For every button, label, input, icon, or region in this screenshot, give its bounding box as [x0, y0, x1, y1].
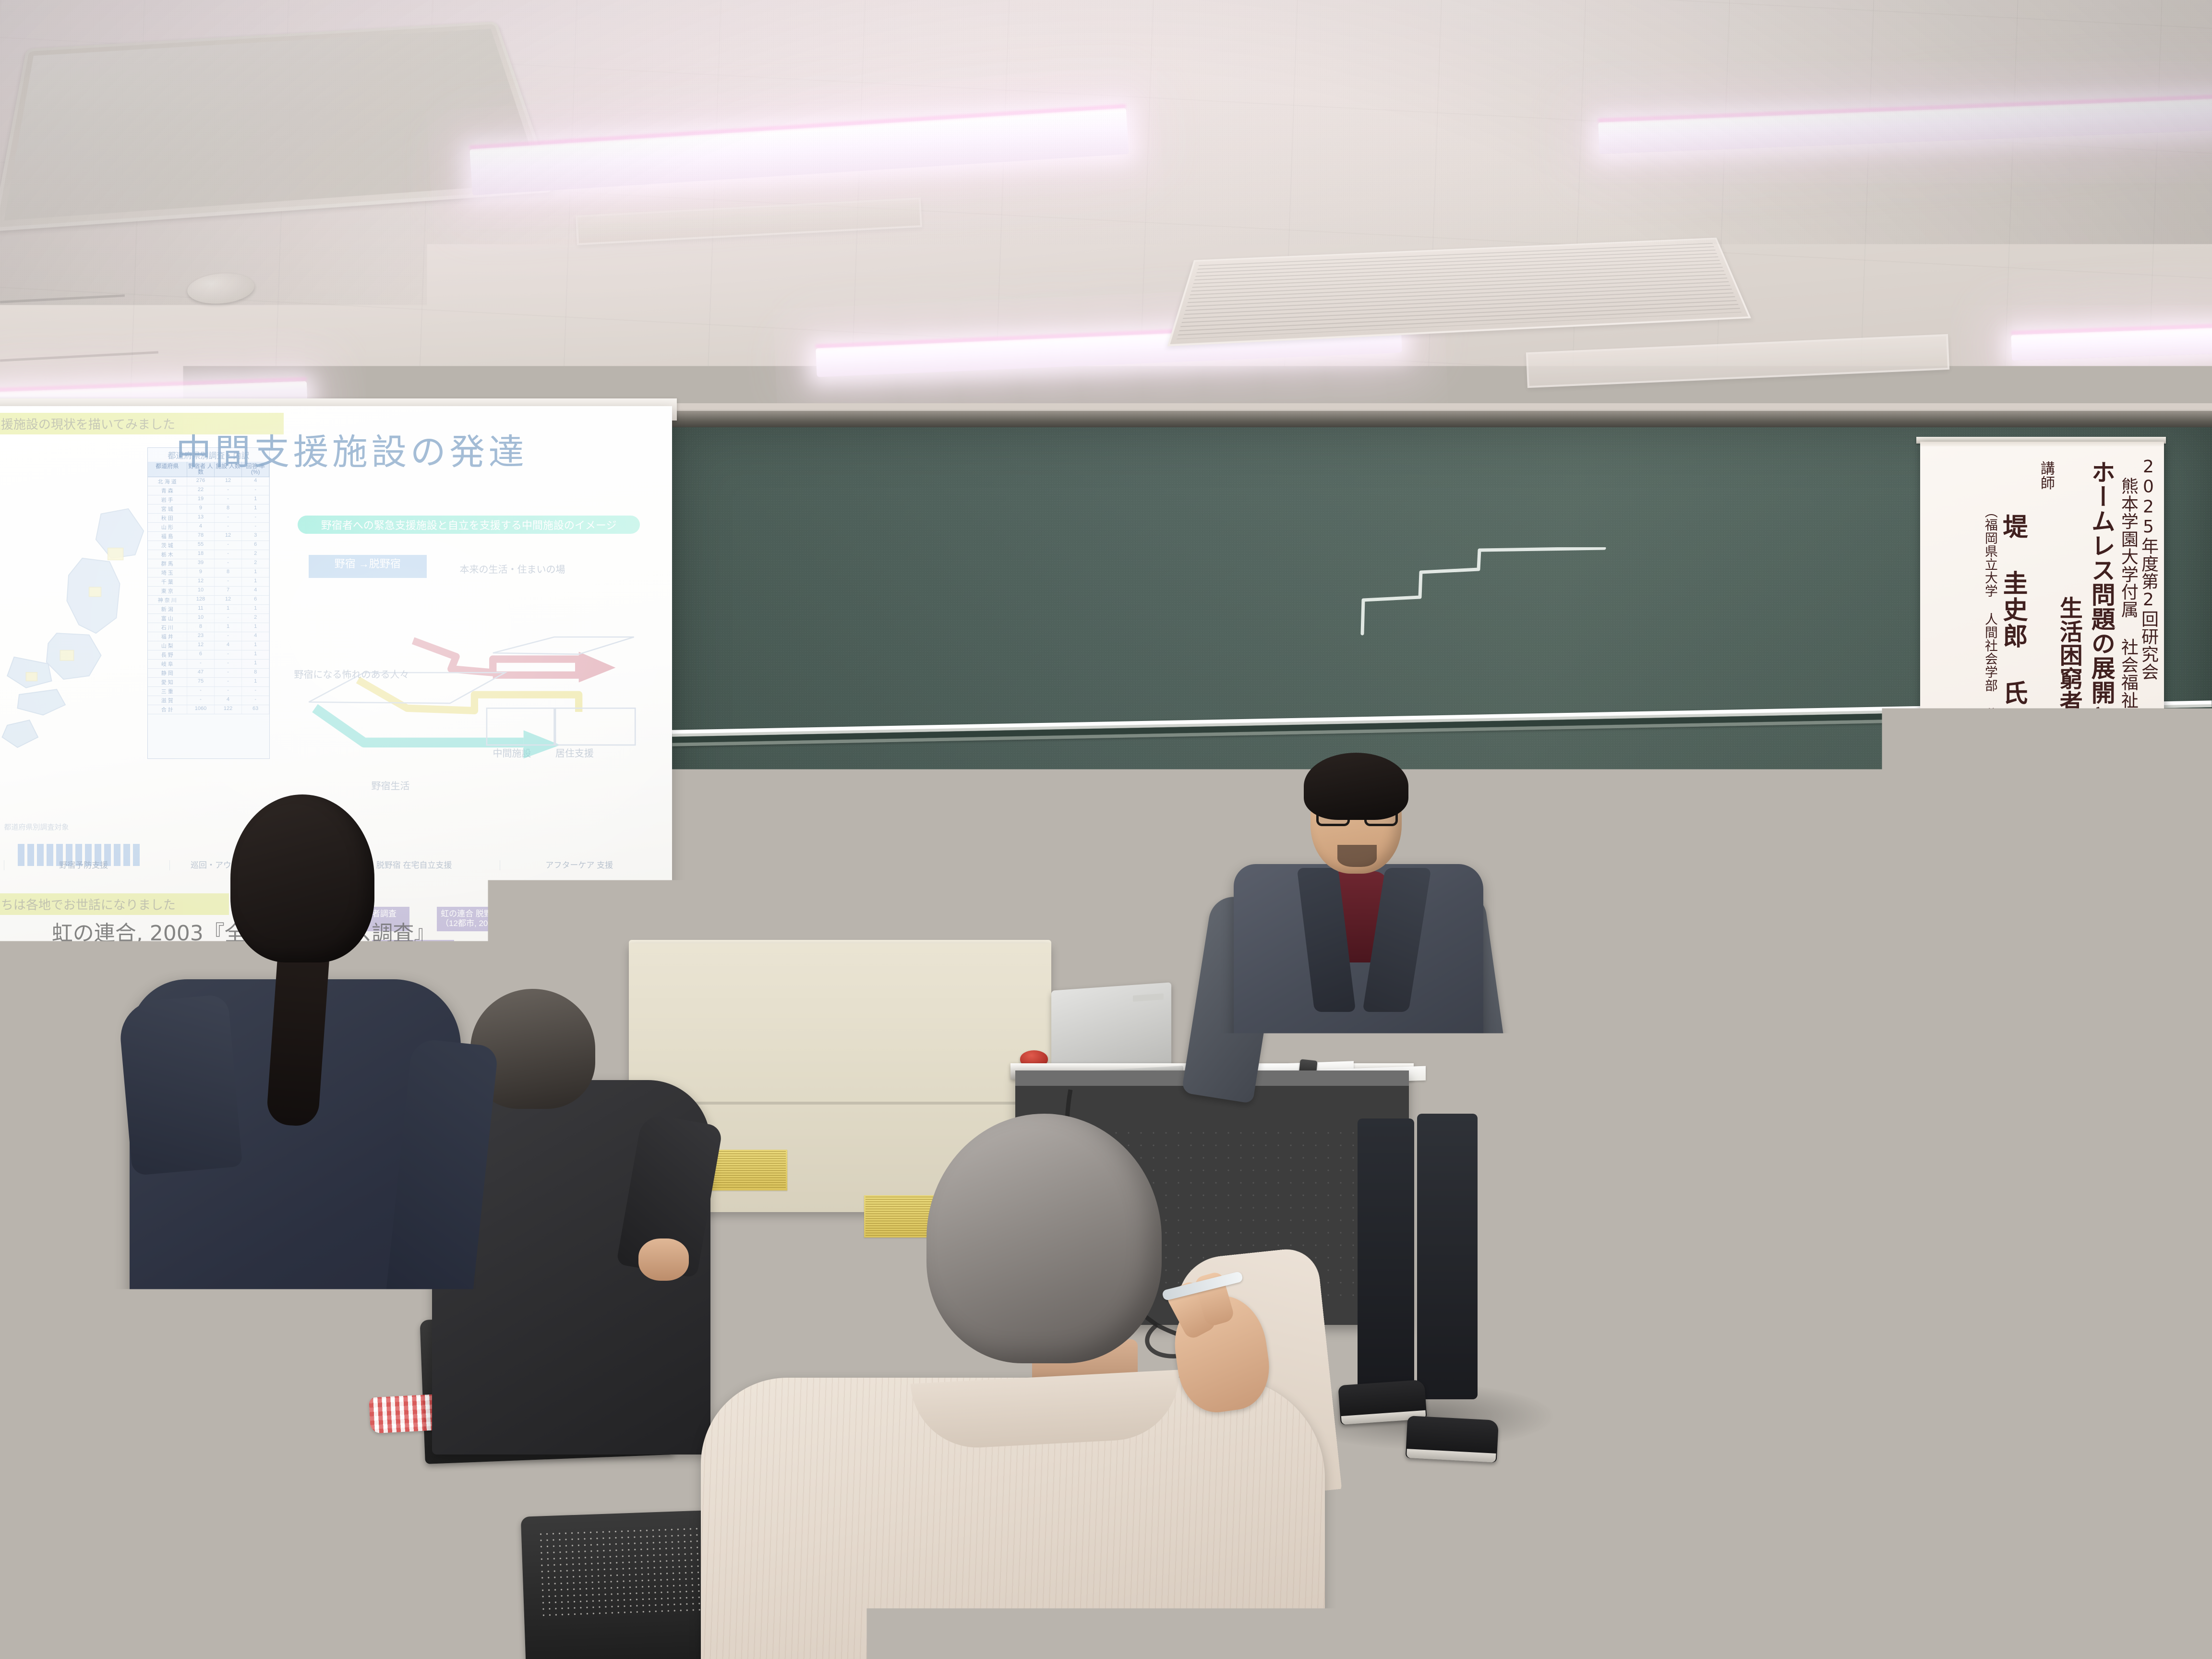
table-row: 北 海 道276124 — [148, 477, 270, 486]
table-cell: 19 — [187, 495, 215, 504]
legend-item: 脱野宿 在宅自立支援 — [335, 860, 493, 870]
table-cell: 福 島 — [148, 532, 187, 541]
table-cell: - — [215, 669, 242, 677]
table-cell: 276 — [187, 477, 215, 486]
table-cell: 三 重 — [148, 687, 187, 696]
table-cell: 1 — [242, 568, 269, 577]
table-cell: 神 奈 川 — [148, 596, 187, 604]
table-row: 滋 賀-4- — [148, 696, 270, 705]
prefecture-table-body: 北 海 道276124青 森22--岩 手19-1宮 城981秋 田13--山 … — [148, 477, 270, 759]
table-cell: 1 — [242, 577, 269, 586]
water-bottle[interactable] — [1755, 1247, 1797, 1343]
table-cell: 石 川 — [148, 623, 187, 632]
table-row: 茨 城55-6 — [148, 541, 270, 550]
table-cell: 1 — [242, 650, 269, 659]
table-cell: 埼 玉 — [148, 568, 187, 577]
table-cell: 4 — [242, 477, 269, 486]
legend-item: 野宿予防支援 — [4, 860, 163, 870]
desk-leg — [1517, 1223, 1528, 1343]
table-cell: 4 — [187, 523, 215, 531]
table-cell: 8 — [187, 623, 215, 632]
table-cell: 2 — [242, 550, 269, 559]
table-cell: 23 — [187, 632, 215, 641]
table-row: 合 計106012263 — [148, 705, 270, 714]
table-cell: 福 井 — [148, 632, 187, 641]
attendee-arm — [385, 1038, 499, 1314]
table-cell: 合 計 — [148, 705, 187, 714]
table-cell: 静 岡 — [148, 669, 187, 677]
table-cell: - — [215, 550, 242, 559]
desk — [0, 1160, 365, 1195]
power-cable — [998, 1075, 1334, 1411]
table-cell: 千 葉 — [148, 577, 187, 586]
table-row: 青 森22-- — [148, 486, 270, 495]
table-cell: 9 — [187, 568, 215, 577]
table-cell: 4 — [215, 641, 242, 650]
slide-yellow-banner-mid: たちは各地でお世話になりました — [0, 893, 229, 915]
table-cell: 1 — [242, 495, 269, 504]
table-cell: - — [215, 632, 242, 641]
table-cell: - — [187, 696, 215, 705]
table-cell: - — [242, 514, 269, 522]
table-cell: 10 — [187, 614, 215, 623]
pull-down-projection-screen: 支援施設の現状を描いてみました — [0, 406, 672, 953]
japan-map-graphic — [0, 461, 171, 805]
table-row: 長 野6-1 — [148, 650, 270, 660]
legend-item: アフターケア 支援 — [500, 860, 659, 870]
table-cell: 1 — [242, 660, 269, 668]
banner-title-sub: 生活困窮者支援 — [2056, 452, 2081, 976]
table-cell: 1 — [242, 605, 269, 613]
table-cell: 4 — [242, 632, 269, 641]
table-cell: 2 — [242, 559, 269, 568]
table-cell: 13 — [187, 514, 215, 522]
table-cell: 宮 城 — [148, 505, 187, 513]
attendee-shoulder — [118, 994, 243, 1176]
table-cell: 22 — [187, 486, 215, 495]
banner-speaker-name: 堤 圭史郎 氏 — [1999, 452, 2026, 976]
table-cell: - — [242, 523, 269, 531]
table-cell: 12 — [215, 596, 242, 604]
table-cell: 11 — [187, 605, 215, 613]
desk-leg — [2160, 1337, 2173, 1424]
table-row: 富 山10-2 — [148, 614, 270, 623]
table-row: 栃 木18-2 — [148, 550, 270, 559]
desk — [0, 1480, 164, 1511]
table-cell: 75 — [187, 678, 215, 686]
table-row: 千 葉12-1 — [148, 577, 270, 587]
table-cell: 39 — [187, 559, 215, 568]
legend-item: 巡回・アウトリーチ 脱野宿支援 — [169, 860, 328, 870]
table-row: 福 井23-4 — [148, 632, 270, 641]
table-cell: 63 — [242, 705, 269, 714]
table-cell: 1 — [242, 641, 269, 650]
banner-title-main: ホームレス問題の展開と — [2089, 452, 2114, 976]
banner-affiliation: （福岡県立大学 人間社会学部 公共社会学科 教授） — [1983, 452, 1996, 976]
table-cell: 富 山 — [148, 614, 187, 623]
table-cell: 愛 知 — [148, 678, 187, 686]
table-cell: 岐 阜 — [148, 660, 187, 668]
table-cell: - — [215, 541, 242, 550]
table-cell: 12 — [187, 577, 215, 586]
banner-organizer: 熊本学園大学付属 社会福祉研究所 — [2119, 452, 2137, 976]
table-cell: - — [215, 614, 242, 623]
attendee-head — [470, 989, 595, 1109]
table-row: 山 梨1241 — [148, 641, 270, 650]
banner-speaker-label: 講師 — [2038, 452, 2054, 976]
table-cell: - — [215, 514, 242, 522]
table-row: 東 京1074 — [148, 587, 270, 596]
table-cell: 1 — [242, 623, 269, 632]
survey-badge: 虹の連合 脱野宿生活者調査（12都市, 2003） — [437, 907, 546, 931]
table-cell: 茨 城 — [148, 541, 187, 550]
table-row: 宮 城981 — [148, 505, 270, 514]
table-cell: - — [215, 559, 242, 568]
table-cell: 12 — [215, 532, 242, 541]
cabinet-instruction-label — [710, 1150, 787, 1190]
table-row: 石 川811 — [148, 623, 270, 632]
cabinet-instruction-label — [864, 1195, 960, 1238]
table-cell: 10 — [187, 587, 215, 595]
table-cell: 128 — [187, 596, 215, 604]
table-cell: 47 — [187, 669, 215, 677]
lecture-room-photograph: 2025年度第2回研究会 熊本学園大学付属 社会福祉研究所 ホームレス問題の展開… — [0, 0, 2212, 1659]
table-cell: 新 潟 — [148, 605, 187, 613]
table-cell: 秋 田 — [148, 514, 187, 522]
table-cell: 群 馬 — [148, 559, 187, 568]
table-cell: - — [215, 678, 242, 686]
table-cell: - — [215, 495, 242, 504]
table-row: 群 馬39-2 — [148, 559, 270, 568]
table-cell: - — [215, 523, 242, 531]
table-cell: - — [215, 577, 242, 586]
table-cell: 1 — [215, 605, 242, 613]
table-cell: 12 — [187, 641, 215, 650]
table-row: 山 形4-- — [148, 523, 270, 532]
seminar-banner: 2025年度第2回研究会 熊本学園大学付属 社会福祉研究所 ホームレス問題の展開… — [1920, 442, 2164, 989]
prefecture-table: 都道府県別調査・内訳 都道府県 野宿者 人数 施設 人数 回答 率(%) 北 海… — [147, 447, 270, 759]
table-row: 埼 玉981 — [148, 568, 270, 577]
table-cell: - — [242, 687, 269, 696]
table-cell: 122 — [215, 705, 242, 714]
table-row: 三 重--- — [148, 687, 270, 696]
table-cell: 栃 木 — [148, 550, 187, 559]
table-cell: 滋 賀 — [148, 696, 187, 705]
table-cell: 18 — [187, 550, 215, 559]
table-cell: 4 — [242, 587, 269, 595]
table-cell: 1 — [215, 623, 242, 632]
table-cell: - — [187, 687, 215, 696]
table-cell: 78 — [187, 532, 215, 541]
table-row: 神 奈 川128126 — [148, 596, 270, 605]
slide-map-caption: 都道府県別調査対象 — [4, 822, 69, 832]
table-row: 福 島78123 — [148, 532, 270, 541]
table-cell: 山 形 — [148, 523, 187, 531]
projected-slide: 支援施設の現状を描いてみました — [0, 406, 672, 953]
attendee-torso — [130, 979, 461, 1659]
projection-screen-bottom-bar — [0, 942, 672, 958]
table-cell: 6 — [242, 596, 269, 604]
table-cell: 山 梨 — [148, 641, 187, 650]
table-cell: 青 森 — [148, 486, 187, 495]
slide-title: 中間支援施設の発達 — [176, 423, 528, 475]
banner-date-series: 2025年度第2回研究会 — [2139, 452, 2157, 976]
table-cell: 7 — [215, 587, 242, 595]
table-cell: - — [215, 486, 242, 495]
table-cell: 9 — [187, 505, 215, 513]
table-cell: 55 — [187, 541, 215, 550]
diagram-green-banner: 野宿者への緊急支援施設と自立を支援する中間施設のイメージ — [298, 516, 640, 534]
table-cell: - — [187, 660, 215, 668]
table-cell: 長 野 — [148, 650, 187, 659]
diagram-label: 本来の生活・住まいの場 — [460, 562, 565, 576]
table-cell: 6 — [242, 541, 269, 550]
bottle-cap[interactable] — [1758, 1235, 1791, 1251]
table-cell: 4 — [215, 696, 242, 705]
table-cell: - — [215, 660, 242, 668]
table-row: 秋 田13-- — [148, 514, 270, 523]
table-cell: - — [242, 696, 269, 705]
table-cell: 東 京 — [148, 587, 187, 595]
table-cell: 2 — [242, 614, 269, 623]
slide-diagram: 野宿者への緊急支援施設と自立を支援する中間施設のイメージ 野宿 →脱野宿 本来の… — [290, 516, 659, 844]
table-cell: 3 — [242, 532, 269, 541]
thermos-tumbler[interactable] — [1392, 1476, 1483, 1659]
table-cell: 1060 — [187, 705, 215, 714]
table-cell: 8 — [242, 669, 269, 677]
table-row: 愛 知75-1 — [148, 678, 270, 687]
table-cell: 北 海 道 — [148, 477, 187, 486]
table-cell: 1 — [242, 678, 269, 686]
ceiling — [0, 0, 2212, 413]
table-cell: 6 — [187, 650, 215, 659]
table-row: 新 潟1111 — [148, 605, 270, 614]
table-row: 岐 阜--1 — [148, 660, 270, 669]
table-cell: - — [215, 687, 242, 696]
diagram-blue-box: 野宿 →脱野宿 — [309, 555, 426, 578]
diagram-legend: 野宿予防支援 巡回・アウトリーチ 脱野宿支援 脱野宿 在宅自立支援 アフターケア… — [4, 860, 658, 870]
table-cell: - — [215, 650, 242, 659]
diagram-flow-arrows — [290, 588, 659, 804]
table-row: 岩 手19-1 — [148, 495, 270, 505]
av-equipment-cabinet[interactable] — [629, 943, 1051, 1212]
table-cell: 1 — [242, 505, 269, 513]
table-cell: 岩 手 — [148, 495, 187, 504]
table-cell: 8 — [215, 568, 242, 577]
blackboard-eraser[interactable] — [2077, 1105, 2140, 1126]
chair[interactable] — [370, 1166, 581, 1325]
table-cell: 12 — [215, 477, 242, 486]
table-row: 静 岡47-8 — [148, 669, 270, 678]
table-cell: - — [242, 486, 269, 495]
table-cell: 8 — [215, 505, 242, 513]
blackboard-eraser[interactable] — [2137, 1103, 2210, 1125]
eyeglasses-case[interactable] — [451, 1392, 528, 1422]
